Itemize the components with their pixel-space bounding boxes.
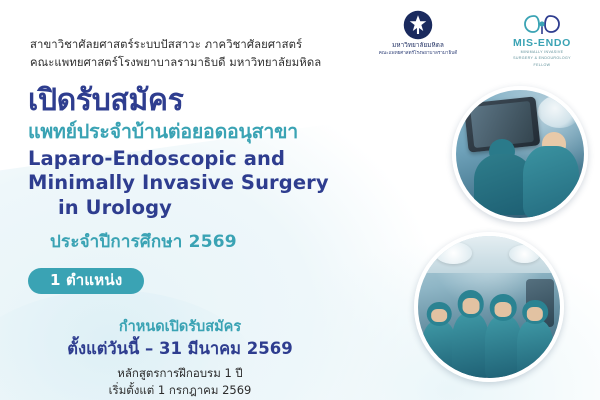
program-title-en: Laparo-Endoscopic and Minimally Invasive… [28, 147, 400, 221]
poster-canvas: มหาวิทยาลัยมหิดล คณะแพทยศาสตร์โรงพยาบาลร… [0, 0, 600, 400]
logo-row: มหาวิทยาลัยมหิดล คณะแพทยศาสตร์โรงพยาบาลร… [362, 10, 584, 68]
program-title-line3: in Urology [28, 196, 400, 221]
mahidol-logo-line2: คณะแพทยศาสตร์โรงพยาบาลรามาธิบดี [362, 50, 474, 56]
deadline-block: กำหนดเปิดรับสมัคร ตั้งแต่วันนี้ – 31 มีน… [0, 318, 360, 398]
mahidol-logo: มหาวิทยาลัยมหิดล คณะแพทยศาสตร์โรงพยาบาลร… [362, 10, 474, 56]
deadline-title: กำหนดเปิดรับสมัคร [0, 318, 360, 337]
program-title-line2: Minimally Invasive Surgery [28, 171, 400, 196]
headline-main: เปิดรับสมัคร [28, 84, 400, 118]
program-title-line1: Laparo-Endoscopic and [28, 147, 400, 172]
department-header: สาขาวิชาศัลยศาสตร์ระบบปัสสาวะ ภาควิชาศัล… [30, 36, 321, 73]
program-start-note: เริ่มตั้งแต่ 1 กรกฎาคม 2569 [0, 382, 360, 399]
surgeon-console-photo [452, 86, 588, 222]
mis-endo-sub1: MINIMALLY INVASIVE [500, 50, 584, 55]
department-line-1: สาขาวิชาศัลยศาสตร์ระบบปัสสาวะ ภาควิชาศัล… [30, 36, 321, 54]
mahidol-logo-line1: มหาวิทยาลัยมหิดล [362, 42, 474, 50]
or-surgical-lamp-left [435, 242, 472, 265]
or-surgical-lamp-right [509, 245, 540, 263]
or-team-member-3 [485, 316, 522, 378]
mis-endo-name: MIS-ENDO [500, 37, 584, 49]
headline-subtitle: แพทย์ประจำบ้านต่อยอดอนุสาขา [28, 120, 400, 143]
mahidol-crest-icon [403, 10, 433, 40]
program-duration-note: หลักสูตรการฝึกอบรม 1 ปี [0, 365, 360, 382]
mis-endo-mark [500, 12, 584, 36]
or-team-member-2 [452, 313, 489, 378]
or-team-member-4 [517, 320, 553, 378]
surgeon-body-2 [523, 146, 579, 218]
mis-endo-sub2: SURGERY & ENDOUROLOGY [500, 56, 584, 61]
department-line-2: คณะแพทยศาสตร์โรงพยาบาลรามาธิบดี มหาวิทยา… [30, 54, 321, 72]
or-light-glow [538, 95, 582, 128]
headline-block: เปิดรับสมัคร แพทย์ประจำบ้านต่อยอดอนุสาขา… [28, 84, 400, 255]
academic-year: ประจำปีการศึกษา 2569 [28, 228, 400, 255]
positions-badge: 1 ตำแหน่ง [28, 268, 144, 294]
deadline-range: ตั้งแต่วันนี้ – 31 มีนาคม 2569 [0, 338, 360, 360]
mis-endo-logo: MIS-ENDO MINIMALLY INVASIVE SURGERY & EN… [500, 10, 584, 68]
surgeon-console-photo-image [456, 90, 584, 218]
kidney-scope-icon [522, 12, 562, 36]
mis-endo-sub3: FELLOW [500, 63, 584, 68]
or-team-photo [414, 232, 564, 382]
or-team-photo-image [418, 236, 560, 378]
